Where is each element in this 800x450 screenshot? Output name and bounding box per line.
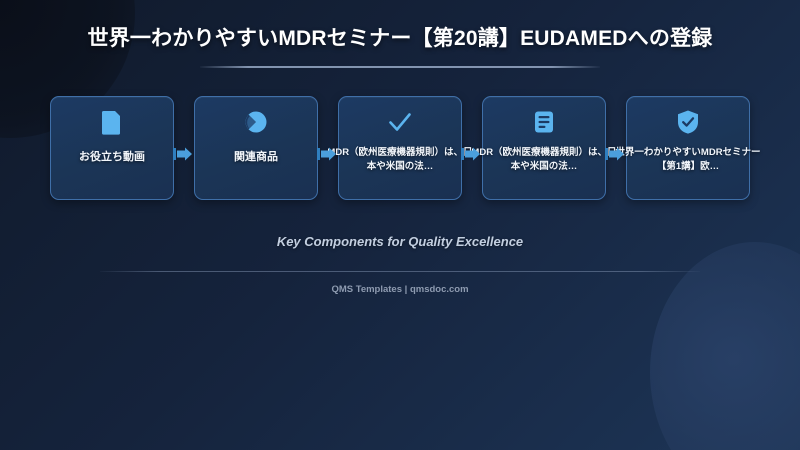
- flow-step-4[interactable]: MDR（欧州医療機器規則）は、日本や米国の法…: [482, 96, 606, 200]
- flow-step-2[interactable]: 関連商品: [194, 96, 318, 200]
- flow-step-2-label: 関連商品: [191, 149, 321, 166]
- flow-step-5-label: 世界一わかりやすいMDRセミナー【第1講】欧…: [613, 146, 763, 175]
- process-flow: お役立ち動画 関連商品: [50, 96, 750, 200]
- flow-step-3-label: MDR（欧州医療機器規則）は、日本や米国の法…: [325, 146, 475, 175]
- title-block: 世界一わかりやすいMDRセミナー【第20講】EUDAMEDへの登録: [0, 26, 800, 68]
- check-icon: [386, 108, 414, 136]
- slide-title: 世界一わかりやすいMDRセミナー【第20講】EUDAMEDへの登録: [0, 26, 800, 52]
- list-document-icon: [530, 108, 558, 136]
- footer-attribution: QMS Templates | qmsdoc.com: [0, 284, 800, 295]
- decorative-circle-bottom-right: [650, 242, 800, 450]
- flow-step-3[interactable]: MDR（欧州医療機器規則）は、日本や米国の法…: [338, 96, 462, 200]
- flow-step-4-label: MDR（欧州医療機器規則）は、日本や米国の法…: [469, 146, 619, 175]
- flow-step-1-label: お役立ち動画: [47, 149, 177, 166]
- pie-chart-icon: [242, 108, 270, 136]
- document-icon: [98, 108, 126, 136]
- flow-step-1[interactable]: お役立ち動画: [50, 96, 174, 200]
- arrow-right-icon: [461, 147, 481, 161]
- footer-divider: [100, 271, 700, 272]
- slide-subtitle: Key Components for Quality Excellence: [0, 234, 800, 249]
- arrow-right-icon: [605, 147, 625, 161]
- flow-step-5[interactable]: 世界一わかりやすいMDRセミナー【第1講】欧…: [626, 96, 750, 200]
- arrow-right-icon: [173, 147, 193, 161]
- slide-canvas: 世界一わかりやすいMDRセミナー【第20講】EUDAMEDへの登録 お役立ち動画: [0, 0, 800, 450]
- shield-check-icon: [674, 108, 702, 136]
- arrow-right-icon: [317, 147, 337, 161]
- title-divider: [200, 66, 600, 68]
